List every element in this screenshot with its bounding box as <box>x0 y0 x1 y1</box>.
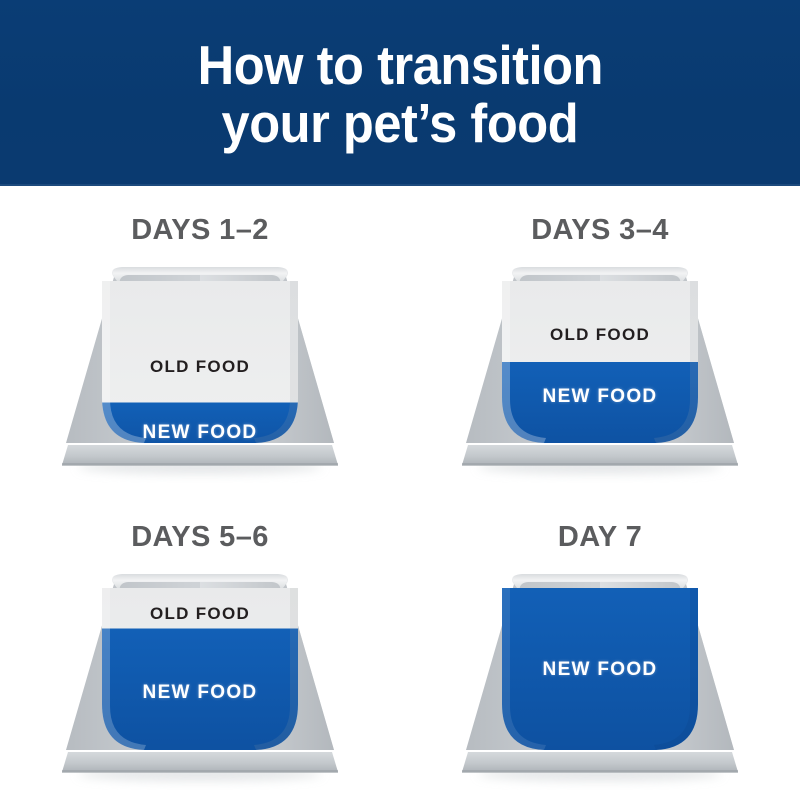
bowl-graphic-1 <box>50 259 350 484</box>
header-title-line-1: How to transition <box>197 36 602 94</box>
panel-days-1-2: DAYS 1–2 <box>0 186 400 493</box>
panel-day-7: DAY 7 <box>400 493 800 800</box>
panel-title-day-7: DAY 7 <box>558 521 642 554</box>
bowl-graphic-2 <box>450 259 750 484</box>
infographic-page: How to transition your pet’s food DAYS 1… <box>0 0 800 800</box>
header-title-line-2: your pet’s food <box>222 94 579 152</box>
header-banner: How to transition your pet’s food <box>0 0 800 186</box>
bowl-graphic-3 <box>50 566 350 791</box>
bowl-days-1-2: OLD FOOD NEW FOOD <box>50 259 350 484</box>
bowl-panel-grid: DAYS 1–2 <box>0 186 800 800</box>
bowl-day-7: OLD FOOD NEW FOOD <box>450 566 750 791</box>
panel-title-days-3-4: DAYS 3–4 <box>531 214 669 247</box>
panel-days-5-6: DAYS 5–6 <box>0 493 400 800</box>
panel-title-days-1-2: DAYS 1–2 <box>131 214 269 247</box>
bowl-graphic-4 <box>450 566 750 791</box>
bowl-days-3-4: OLD FOOD NEW FOOD <box>450 259 750 484</box>
panel-title-days-5-6: DAYS 5–6 <box>131 521 269 554</box>
bowl-days-5-6: OLD FOOD NEW FOOD <box>50 566 350 791</box>
panel-days-3-4: DAYS 3–4 <box>400 186 800 493</box>
